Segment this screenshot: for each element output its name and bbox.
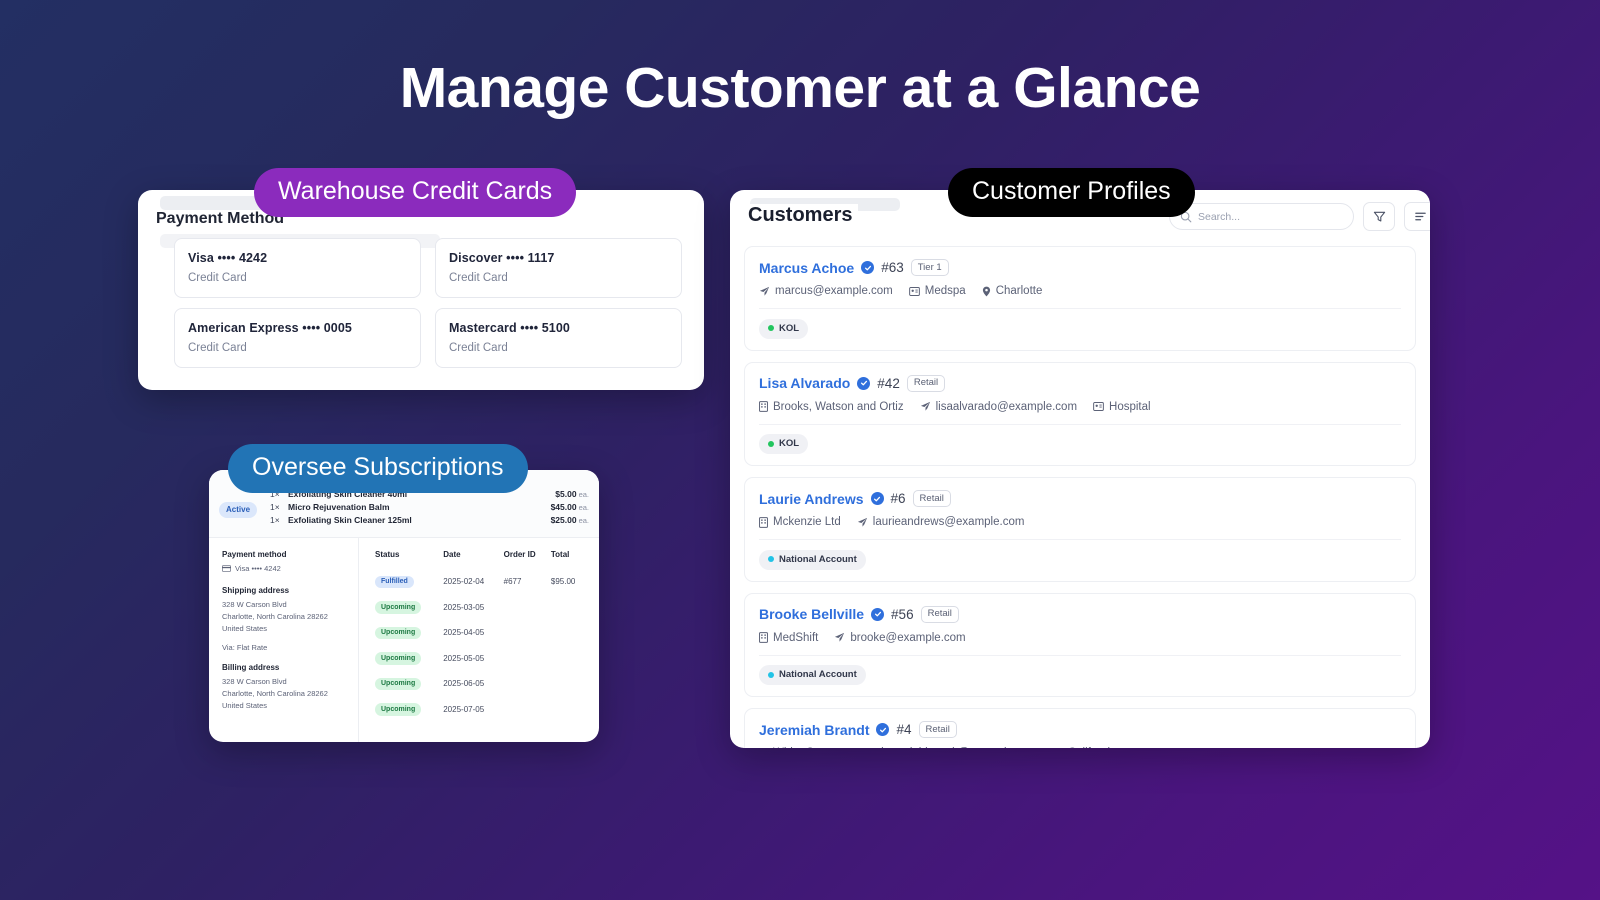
order-id-link[interactable] <box>504 671 551 697</box>
order-total: $95.00 <box>551 569 587 595</box>
filter-button[interactable] <box>1363 202 1395 231</box>
billing-address-label: Billing address <box>222 663 345 672</box>
filter-icon <box>1373 210 1386 223</box>
customer-segment-item: Medspa <box>909 285 966 297</box>
customer-chip-label: KOL <box>779 323 799 334</box>
send-icon <box>865 748 876 749</box>
label-customer-profiles: Customer Profiles <box>948 168 1195 217</box>
item-unit: ea. <box>579 502 589 514</box>
customers-list: Marcus Achoe #63 Tier 1 marcus@example.c… <box>730 246 1430 748</box>
customer-email-item: jeremiahbrandt@example.com <box>865 747 1038 748</box>
search-placeholder: Search... <box>1198 211 1240 223</box>
payment-method-item[interactable]: Discover •••• 1117 Credit Card <box>435 238 682 298</box>
customer-tier-tag: Retail <box>921 606 959 623</box>
payment-method-value-row: Visa •••• 4242 <box>222 563 345 575</box>
label-oversee-subscriptions: Oversee Subscriptions <box>228 444 528 493</box>
customer-company: White-Santana <box>773 747 849 748</box>
customer-email-item: brooke@example.com <box>834 632 965 644</box>
status-dot <box>768 672 774 678</box>
customer-chip: KOL <box>759 319 808 339</box>
item-price: $45.00 <box>551 501 577 514</box>
customer-id: #56 <box>891 607 914 622</box>
subscription-item: 1× Exfoliating Skin Cleaner 125ml $25.00… <box>270 514 589 527</box>
customer-tier-tag: Retail <box>907 375 945 392</box>
payment-method-list: Visa •••• 4242 Credit Card Discover ••••… <box>174 238 682 368</box>
customer-id: #42 <box>877 376 900 391</box>
order-id-link[interactable] <box>504 697 551 723</box>
verified-badge-icon <box>871 492 884 505</box>
payment-method-item[interactable]: Mastercard •••• 5100 Credit Card <box>435 308 682 368</box>
building-icon <box>759 632 768 643</box>
customer-email: brooke@example.com <box>850 632 965 644</box>
status-badge: Upcoming <box>375 703 421 716</box>
customers-title: Customers <box>748 204 858 227</box>
item-unit: ea. <box>579 489 589 501</box>
payment-method-name: Discover •••• 1117 <box>449 251 668 265</box>
verified-badge-icon <box>876 723 889 736</box>
location-pin-icon <box>1054 748 1063 749</box>
customer-company-item: White-Santana <box>759 747 849 748</box>
order-id-link[interactable] <box>504 595 551 621</box>
verified-badge-icon <box>861 261 874 274</box>
customer-chip: KOL <box>759 434 808 454</box>
customer-company-item: MedShift <box>759 632 818 644</box>
customer-segment: Medspa <box>925 285 966 297</box>
payment-method-label: Payment method <box>222 550 345 559</box>
payment-method-item[interactable]: Visa •••• 4242 Credit Card <box>174 238 421 298</box>
customer-row[interactable]: Marcus Achoe #63 Tier 1 marcus@example.c… <box>744 246 1416 351</box>
building-icon <box>759 517 768 528</box>
item-qty: 1× <box>270 501 288 514</box>
status-dot <box>768 441 774 447</box>
column-order-id: Order ID <box>504 550 551 569</box>
customer-name[interactable]: Brooke Bellville <box>759 606 864 622</box>
label-warehouse-credit-cards: Warehouse Credit Cards <box>254 168 576 217</box>
status-badge: Upcoming <box>375 601 421 614</box>
status-badge: Fulfilled <box>375 576 414 589</box>
order-date: 2025-06-05 <box>443 671 503 697</box>
customer-name[interactable]: Marcus Achoe <box>759 260 854 276</box>
subscription-body: Payment method Visa •••• 4242 Shipping a… <box>209 538 599 742</box>
customer-tier-tag: Tier 1 <box>911 259 949 276</box>
shipping-via: Via: Flat Rate <box>222 643 345 652</box>
send-icon <box>857 517 868 528</box>
customer-id: #4 <box>896 722 911 737</box>
order-total <box>551 620 587 646</box>
customer-name[interactable]: Laurie Andrews <box>759 491 864 507</box>
payment-method-item[interactable]: American Express •••• 0005 Credit Card <box>174 308 421 368</box>
customer-id: #6 <box>891 491 906 506</box>
order-id-link[interactable]: #677 <box>504 569 551 595</box>
customer-chip-label: KOL <box>779 438 799 449</box>
sort-button[interactable] <box>1404 202 1430 231</box>
page-title: Manage Customer at a Glance <box>0 56 1600 122</box>
order-id-link[interactable] <box>504 620 551 646</box>
send-icon <box>759 286 770 297</box>
customer-email-item: laurieandrews@example.com <box>857 516 1025 528</box>
item-price: $5.00 <box>555 488 576 501</box>
payment-method-kind: Credit Card <box>188 272 407 284</box>
item-name: Exfoliating Skin Cleaner 125ml <box>288 514 551 527</box>
column-total: Total <box>551 550 587 569</box>
send-icon <box>834 632 845 643</box>
customer-location: Charlotte <box>996 285 1043 297</box>
table-row[interactable]: Upcoming 2025-04-05 <box>375 620 587 646</box>
payment-method-name: Mastercard •••• 5100 <box>449 321 668 335</box>
payment-method-name: Visa •••• 4242 <box>188 251 407 265</box>
payment-method-kind: Credit Card <box>449 272 668 284</box>
customer-email-item: lisaalvarado@example.com <box>920 401 1077 413</box>
subscription-orders-table: Status Date Order ID Total Fulfilled 202… <box>359 538 599 742</box>
customer-name[interactable]: Lisa Alvarado <box>759 375 850 391</box>
customer-company: Mckenzie Ltd <box>773 516 841 528</box>
shipping-address-value: 328 W Carson Blvd Charlotte, North Carol… <box>222 599 345 635</box>
customer-chip-label: National Account <box>779 669 857 680</box>
badge-id-icon <box>1093 402 1104 411</box>
customer-chip: National Account <box>759 665 866 685</box>
item-unit: ea. <box>579 515 589 527</box>
status-badge: Upcoming <box>375 627 421 640</box>
customer-chip: National Account <box>759 550 866 570</box>
badge-id-icon <box>909 287 920 296</box>
order-total <box>551 595 587 621</box>
building-icon <box>759 748 768 749</box>
credit-card-icon <box>222 565 231 572</box>
table-row[interactable]: Upcoming 2025-07-05 <box>375 697 587 723</box>
customer-segment: Hospital <box>1109 401 1151 413</box>
customer-email: laurieandrews@example.com <box>873 516 1025 528</box>
table-row[interactable]: Upcoming 2025-06-05 <box>375 671 587 697</box>
customer-location-item: Charlotte <box>982 285 1043 297</box>
shipping-address-label: Shipping address <box>222 586 345 595</box>
customers-card: Customers Search... <box>730 190 1430 748</box>
building-icon <box>759 401 768 412</box>
payment-method-value: Visa •••• 4242 <box>235 564 281 573</box>
verified-badge-icon <box>857 377 870 390</box>
customer-name[interactable]: Jeremiah Brandt <box>759 722 869 738</box>
subscription-status-badge: Active <box>219 502 257 518</box>
customer-company-item: Mckenzie Ltd <box>759 516 841 528</box>
status-badge: Upcoming <box>375 652 421 665</box>
item-qty: 1× <box>270 514 288 527</box>
order-date: 2025-04-05 <box>443 620 503 646</box>
customer-location-item: California <box>1054 747 1117 748</box>
status-dot <box>768 325 774 331</box>
table-header-row: Status Date Order ID Total <box>375 550 587 569</box>
customers-toolbar: Search... <box>1169 202 1430 231</box>
customer-location: California <box>1068 747 1117 748</box>
customer-email: lisaalvarado@example.com <box>936 401 1077 413</box>
customer-chip-label: National Account <box>779 554 857 565</box>
order-date: 2025-07-05 <box>443 697 503 723</box>
order-total <box>551 671 587 697</box>
location-pin-icon <box>982 286 991 297</box>
status-badge: Upcoming <box>375 678 421 691</box>
customer-row[interactable]: Laurie Andrews #6 Retail Mckenzie Ltd la… <box>744 477 1416 582</box>
customer-id: #63 <box>881 260 904 275</box>
payment-method-kind: Credit Card <box>449 342 668 354</box>
order-id-link[interactable] <box>504 646 551 672</box>
customer-row[interactable]: Jeremiah Brandt #4 Retail White-Santana … <box>744 708 1416 748</box>
item-price: $25.00 <box>551 514 577 527</box>
sort-icon <box>1414 210 1427 223</box>
customer-row[interactable]: Lisa Alvarado #42 Retail Brooks, Watson … <box>744 362 1416 467</box>
customer-company: MedShift <box>773 632 818 644</box>
column-date: Date <box>443 550 503 569</box>
customer-row[interactable]: Brooke Bellville #56 Retail MedShift bro… <box>744 593 1416 698</box>
customer-tier-tag: Retail <box>913 490 951 507</box>
subscription-details: Payment method Visa •••• 4242 Shipping a… <box>209 538 359 742</box>
table-row[interactable]: Upcoming 2025-03-05 <box>375 595 587 621</box>
billing-address-value: 328 W Carson Blvd Charlotte, North Carol… <box>222 676 345 712</box>
customer-email: marcus@example.com <box>775 285 893 297</box>
subscription-items: 1× Exfoliating Skin Cleaner 40ml $5.00 e… <box>270 488 589 528</box>
customer-segment-item: Hospital <box>1093 401 1151 413</box>
order-date: 2025-03-05 <box>443 595 503 621</box>
order-date: 2025-05-05 <box>443 646 503 672</box>
customer-tier-tag: Retail <box>919 721 957 738</box>
customer-email: jeremiahbrandt@example.com <box>881 747 1038 748</box>
payment-method-card: Payment Method Visa •••• 4242 Credit Car… <box>138 190 704 390</box>
payment-method-kind: Credit Card <box>188 342 407 354</box>
order-total <box>551 697 587 723</box>
customer-company-item: Brooks, Watson and Ortiz <box>759 401 904 413</box>
customer-email-item: marcus@example.com <box>759 285 893 297</box>
customer-company: Brooks, Watson and Ortiz <box>773 401 904 413</box>
send-icon <box>920 401 931 412</box>
item-name: Micro Rejuvenation Balm <box>288 501 551 514</box>
verified-badge-icon <box>871 608 884 621</box>
search-input[interactable]: Search... <box>1169 203 1354 230</box>
subscription-item: 1× Micro Rejuvenation Balm $45.00 ea. <box>270 501 589 514</box>
payment-method-name: American Express •••• 0005 <box>188 321 407 335</box>
subscription-card: Active 1× Exfoliating Skin Cleaner 40ml … <box>209 470 599 742</box>
column-status: Status <box>375 550 443 569</box>
status-dot <box>768 556 774 562</box>
table-row[interactable]: Fulfilled 2025-02-04 #677 $95.00 <box>375 569 587 595</box>
order-date: 2025-02-04 <box>443 569 503 595</box>
table-row[interactable]: Upcoming 2025-05-05 <box>375 646 587 672</box>
order-total <box>551 646 587 672</box>
